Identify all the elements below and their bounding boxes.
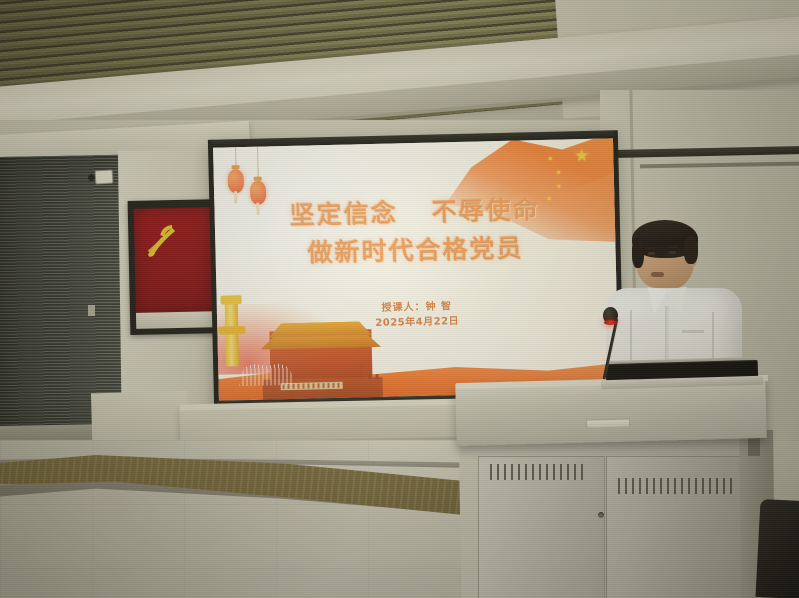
laptop[interactable]	[601, 360, 764, 389]
podium-name-plate	[586, 418, 630, 428]
hair-side-right	[684, 236, 698, 264]
shutter-plate	[88, 305, 95, 316]
party-flag-lower-band	[136, 311, 220, 329]
eye-right	[669, 251, 676, 254]
microphone-led-indicator	[604, 320, 617, 325]
lantern-icon-1	[228, 169, 245, 193]
projection-screen: ★ ★ ★ ★ ★	[211, 130, 621, 411]
podium-vent-right	[618, 478, 736, 494]
hair-side-left	[632, 238, 644, 268]
figure-dot-1	[368, 374, 371, 379]
presentation-slide: ★ ★ ★ ★ ★	[213, 138, 619, 400]
eyebrow-left	[646, 247, 656, 249]
slide-title-part-1: 坚定信念	[289, 198, 398, 230]
podium-vent-left	[490, 464, 588, 480]
mouth	[651, 272, 664, 277]
flag-star-icon-2: ★	[555, 170, 561, 177]
flag-star-large-icon: ★	[574, 147, 590, 164]
lecture-hall-scene: ★ ★ ★ ★ ★	[0, 0, 799, 598]
podium-top-face	[455, 389, 766, 445]
camera-icon	[88, 174, 95, 181]
sensor-icon	[95, 170, 114, 185]
eye-left	[648, 252, 655, 255]
slide-title-part-2: 不辱使命	[431, 195, 540, 227]
podium-keyhole[interactable]	[598, 512, 604, 518]
shirt-pocket	[682, 330, 704, 333]
eyebrow-right	[668, 246, 678, 248]
bag	[755, 499, 799, 598]
figure-dot-2	[375, 374, 378, 379]
hammer-sickle-icon	[144, 220, 179, 261]
flag-star-icon-1: ★	[547, 156, 553, 163]
